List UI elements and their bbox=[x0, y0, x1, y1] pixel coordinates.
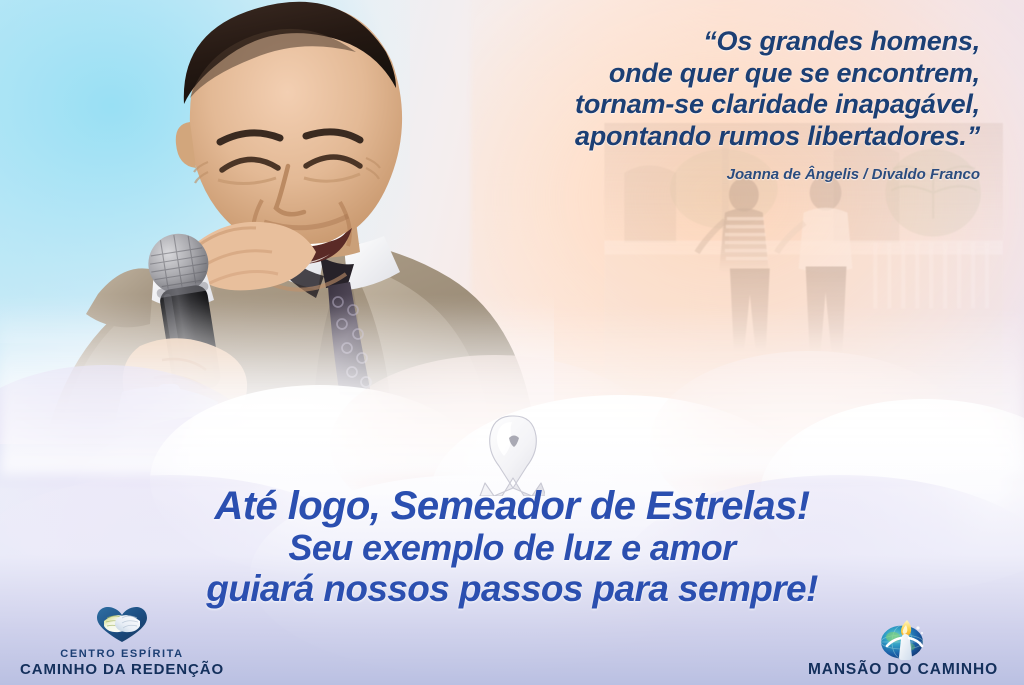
headline-line-2: Seu exemplo de luz e amor bbox=[0, 528, 1024, 568]
logo-left-line-2: CAMINHO DA REDENÇÃO bbox=[20, 661, 224, 679]
headline-line-3: guiará nossos passos para sempre! bbox=[0, 568, 1024, 609]
quote-block: “Os grandes homens, onde quer que se enc… bbox=[360, 26, 980, 184]
logo-centro-espirita: CENTRO ESPÍRITA CAMINHO DA REDENÇÃO bbox=[24, 605, 220, 679]
quote-line-1: “Os grandes homens, bbox=[360, 26, 980, 58]
globe-figure-flame-icon bbox=[876, 614, 930, 660]
quote-line-4: apontando rumos libertadores.” bbox=[360, 121, 980, 153]
headline-line-1: Até logo, Semeador de Estrelas! bbox=[0, 484, 1024, 528]
quote-line-3: tornam-se claridade inapagável, bbox=[360, 89, 980, 121]
quote-attribution: Joanna de Ângelis / Divaldo Franco bbox=[360, 166, 980, 184]
quote-line-2: onde quer que se encontrem, bbox=[360, 58, 980, 90]
tribute-poster: “Os grandes homens, onde quer que se enc… bbox=[0, 0, 1024, 685]
logo-right-line-1: MANSÃO DO CAMINHO bbox=[808, 661, 998, 679]
heart-with-hands-icon bbox=[94, 605, 150, 645]
logo-left-line-1: CENTRO ESPÍRITA bbox=[60, 648, 183, 661]
logo-mansao-do-caminho: MANSÃO DO CAMINHO bbox=[796, 614, 1010, 679]
headline-block: Até logo, Semeador de Estrelas! Seu exem… bbox=[0, 484, 1024, 609]
